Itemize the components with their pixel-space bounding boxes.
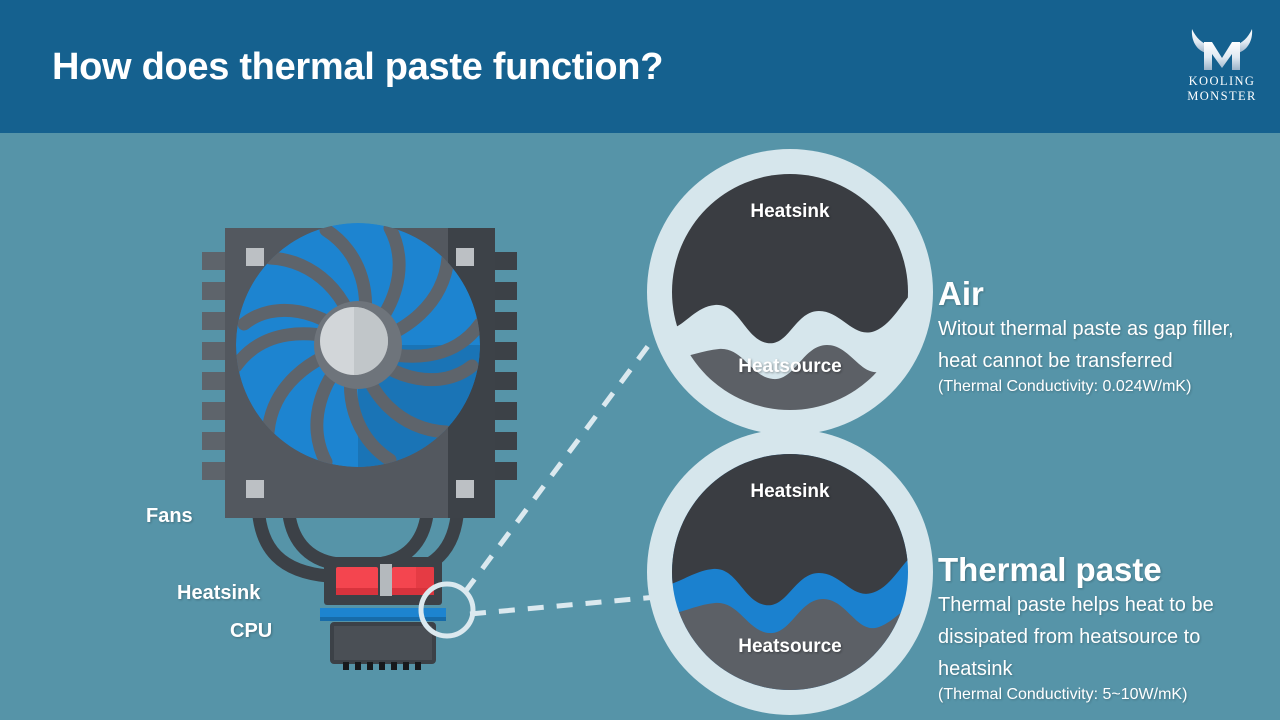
circle-paste-bottom-label: Heatsource (738, 636, 842, 658)
brand-logo: KOOLING MONSTER (1176, 26, 1268, 114)
logo-line-1: KOOLING (1176, 74, 1268, 89)
base-spacer (380, 564, 392, 596)
heatsink-fins-right (493, 252, 517, 480)
callout-air-note: (Thermal Conductivity: 0.024W/mK) (938, 377, 1258, 397)
label-cpu: CPU (230, 620, 272, 643)
callout-paste-body: Thermal paste helps heat to be dissipate… (938, 589, 1258, 685)
circle-diagram-paste: Heatsink Heatsource (647, 429, 933, 715)
circle-diagram-air: Heatsink Heatsource (647, 149, 933, 435)
circle-air-top-label: Heatsink (750, 201, 829, 223)
heatsink-fins-left (202, 252, 226, 480)
heatsink-shape-air (647, 149, 933, 343)
callout-paste-note: (Thermal Conductivity: 5~10W/mK) (938, 685, 1258, 705)
circle-paste-top-label: Heatsink (750, 481, 829, 503)
callout-air-heading: Air (938, 275, 1258, 313)
callout-thermal-paste: Thermal paste Thermal paste helps heat t… (938, 551, 1258, 705)
label-fans: Fans (146, 505, 193, 528)
page-title: How does thermal paste function? (52, 46, 663, 89)
circle-air-bottom-label: Heatsource (738, 356, 842, 378)
callout-paste-heading: Thermal paste (938, 551, 1258, 589)
callout-air: Air Witout thermal paste as gap filler, … (938, 275, 1258, 397)
infographic-canvas: How does thermal paste function? (0, 0, 1280, 720)
logo-line-2: MONSTER (1176, 89, 1268, 104)
page-header: How does thermal paste function? (0, 0, 1280, 133)
callout-air-body: Witout thermal paste as gap filler, heat… (938, 313, 1258, 377)
label-heatsink: Heatsink (177, 582, 260, 605)
cpu-die (332, 624, 434, 662)
monster-horns-m-icon (1176, 26, 1268, 72)
